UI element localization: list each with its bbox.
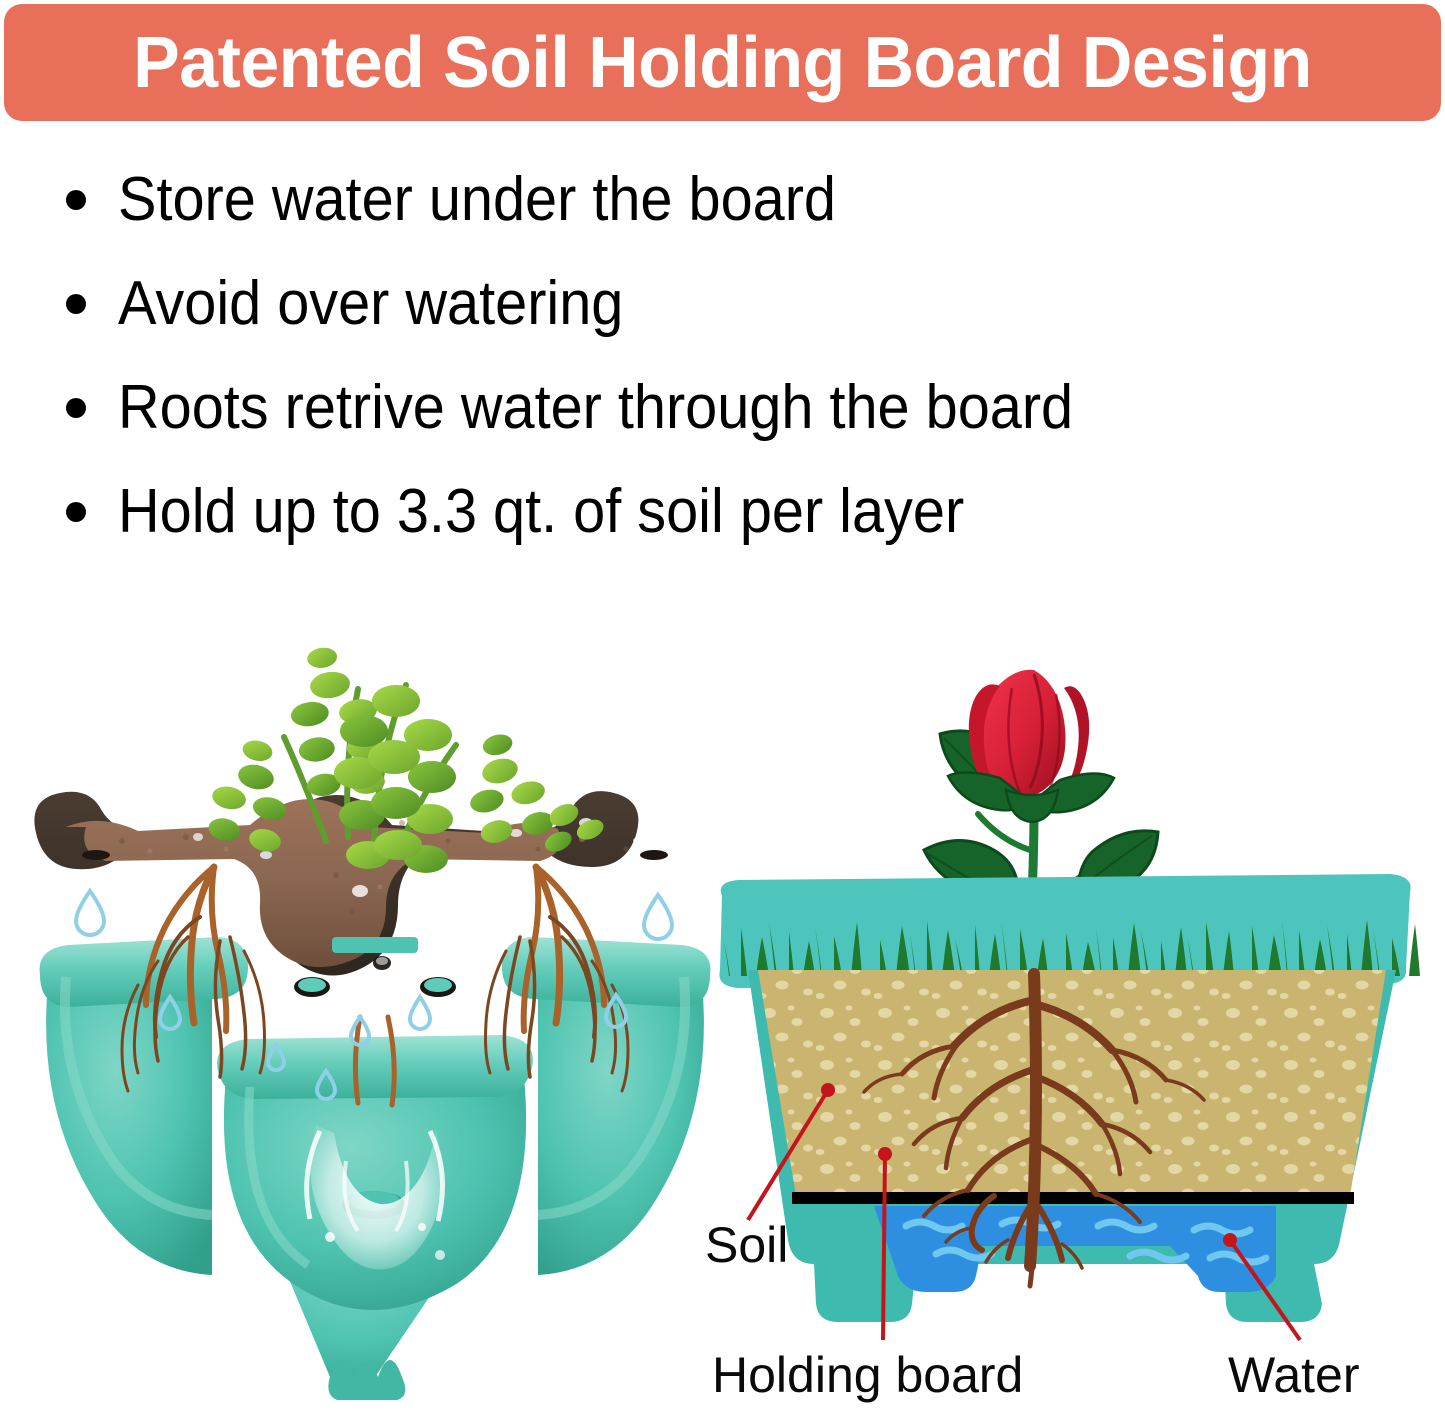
pot-cross-section-diagram [700, 640, 1445, 1415]
list-item: Store water under the board [40, 148, 1420, 252]
pot-body [748, 970, 1396, 1322]
holding-board-line [792, 1192, 1354, 1204]
bullet-dot-icon [66, 502, 86, 522]
feature-list: Store water under the board Avoid over w… [40, 148, 1420, 564]
list-item: Roots retrive water through the board [40, 356, 1420, 460]
bullet-dot-icon [66, 294, 86, 314]
list-item: Hold up to 3.3 qt. of soil per layer [40, 460, 1420, 564]
list-item-label: Store water under the board [118, 167, 836, 233]
page-title: Patented Soil Holding Board Design [26, 26, 1420, 100]
bullet-dot-icon [66, 398, 86, 418]
list-item: Avoid over watering [40, 252, 1420, 356]
header-banner: Patented Soil Holding Board Design [4, 4, 1441, 121]
leader-holding-board [883, 1154, 885, 1340]
leader-dot-soil [821, 1083, 835, 1097]
leader-dot-water [1223, 1233, 1237, 1247]
list-item-label: Roots retrive water through the board [118, 375, 1073, 441]
list-item-label: Hold up to 3.3 qt. of soil per layer [118, 479, 964, 545]
label-holding-board: Holding board [712, 1348, 1023, 1402]
leader-dot-holding-board [878, 1147, 892, 1161]
list-item-label: Avoid over watering [118, 271, 623, 337]
bullet-dot-icon [66, 190, 86, 210]
label-water: Water [1228, 1348, 1360, 1402]
label-soil: Soil [705, 1218, 788, 1272]
rose-bloom [948, 670, 1114, 822]
stackable-planter-photo [30, 565, 720, 1400]
infographic-page: Patented Soil Holding Board Design Store… [0, 0, 1445, 1415]
